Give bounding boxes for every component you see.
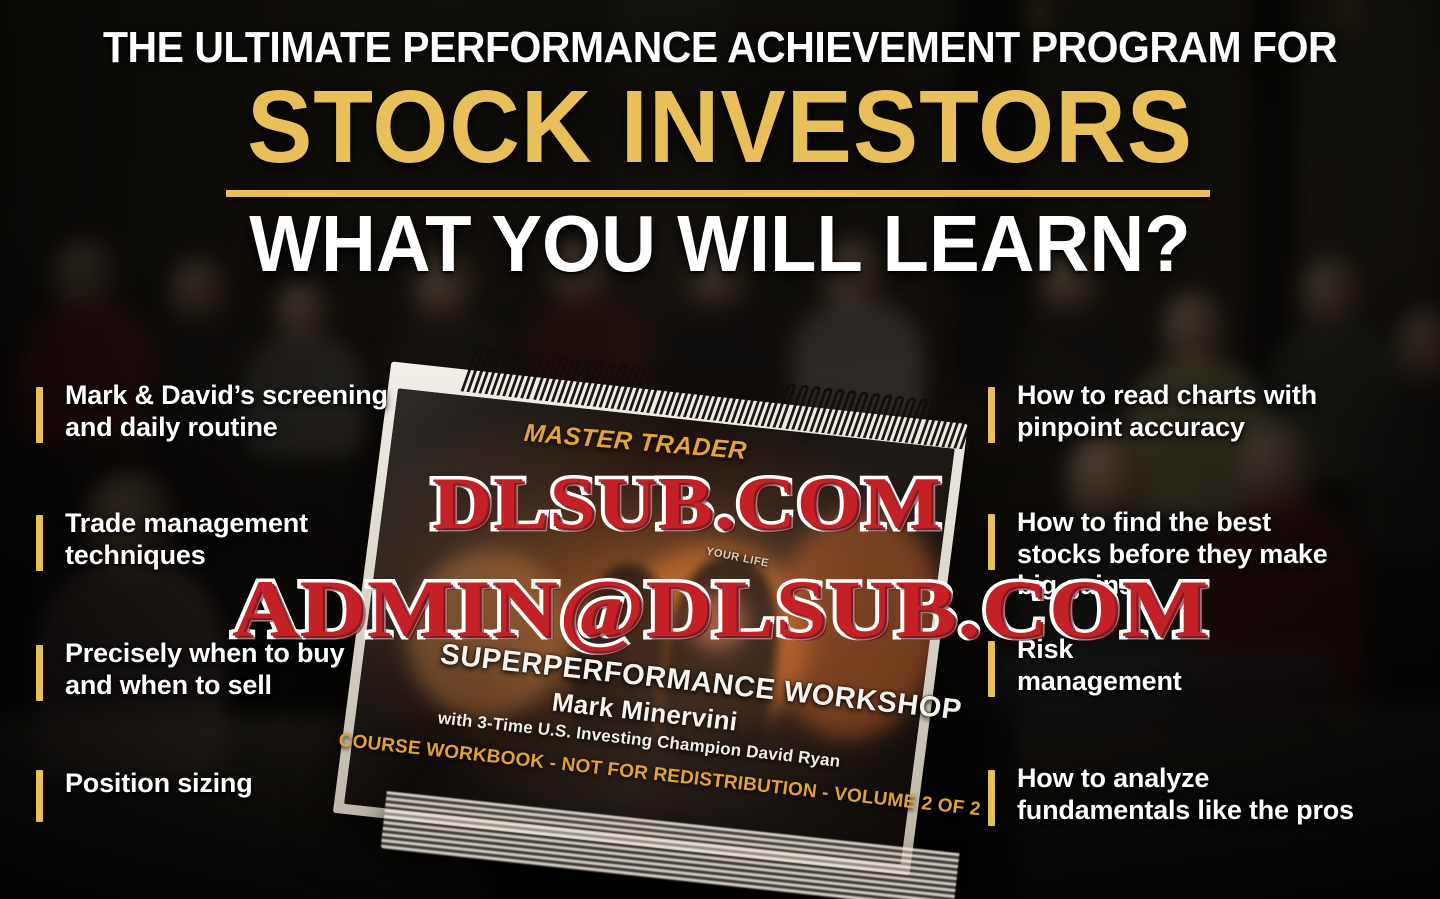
bullet-bar-icon	[36, 515, 43, 571]
bullet-bar-icon	[988, 770, 995, 826]
headline-block: THE ULTIMATE PERFORMANCE ACHIEVEMENT PRO…	[0, 0, 1440, 284]
watermark-site: DLSUB.COM	[432, 462, 942, 547]
watermark-email: ADMIN@DLSUB.COM	[232, 562, 1209, 656]
list-item: How to analyze fundamentals like the pro…	[988, 763, 1428, 827]
headline-kicker: THE ULTIMATE PERFORMANCE ACHIEVEMENT PRO…	[50, 26, 1389, 71]
bullet-bar-icon	[36, 770, 43, 822]
list-item-label: Mark & David’s screening and daily routi…	[65, 380, 388, 444]
headline-gold-title: STOCK INVESTORS	[36, 77, 1404, 178]
list-item: Position sizing	[36, 768, 506, 822]
bullet-bar-icon	[36, 387, 43, 443]
bullet-bar-icon	[36, 645, 43, 701]
list-item: Mark & David’s screening and daily routi…	[36, 380, 506, 444]
list-item-label: Position sizing	[65, 768, 253, 800]
list-item: How to read charts with pinpoint accurac…	[988, 380, 1428, 444]
headline-subtitle: WHAT YOU WILL LEARN?	[36, 204, 1404, 284]
list-item-label: How to analyze fundamentals like the pro…	[1017, 763, 1354, 827]
promotional-poster: THE ULTIMATE PERFORMANCE ACHIEVEMENT PRO…	[0, 0, 1440, 899]
list-item-label: How to read charts with pinpoint accurac…	[1017, 380, 1317, 444]
bullet-bar-icon	[988, 387, 995, 443]
